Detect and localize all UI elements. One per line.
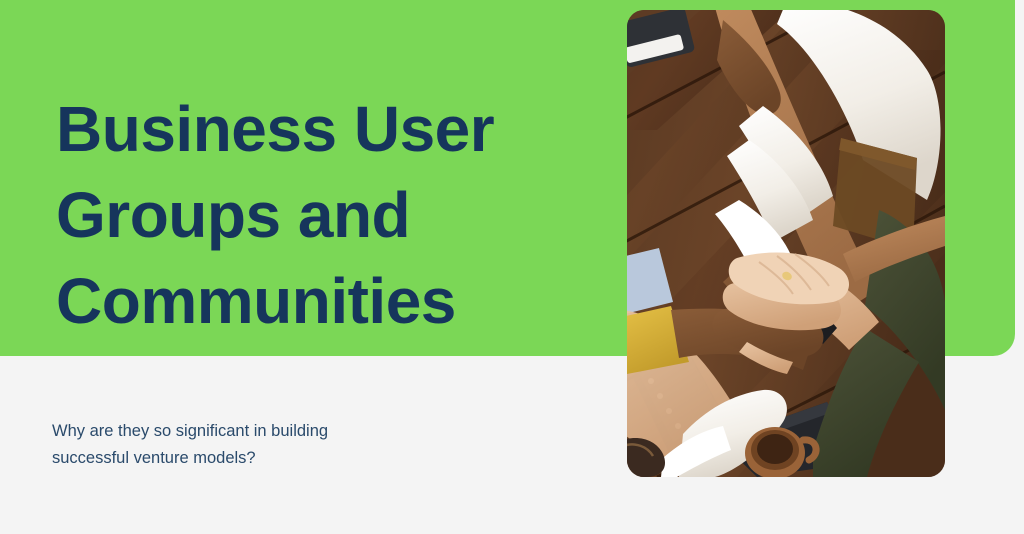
team-hands-illustration (627, 10, 945, 477)
headline-line-3: Communities (56, 258, 596, 344)
headline-line-1: Business User (56, 86, 596, 172)
headline-line-2: Groups and (56, 172, 596, 258)
subtitle-line-2: successful venture models? (52, 445, 472, 472)
presentation-slide: Business User Groups and Communities Why… (0, 0, 1024, 534)
page-subtitle: Why are they so significant in building … (52, 418, 472, 472)
subtitle-line-1: Why are they so significant in building (52, 418, 472, 445)
page-title: Business User Groups and Communities (56, 86, 596, 344)
team-hands-photo (627, 10, 945, 477)
